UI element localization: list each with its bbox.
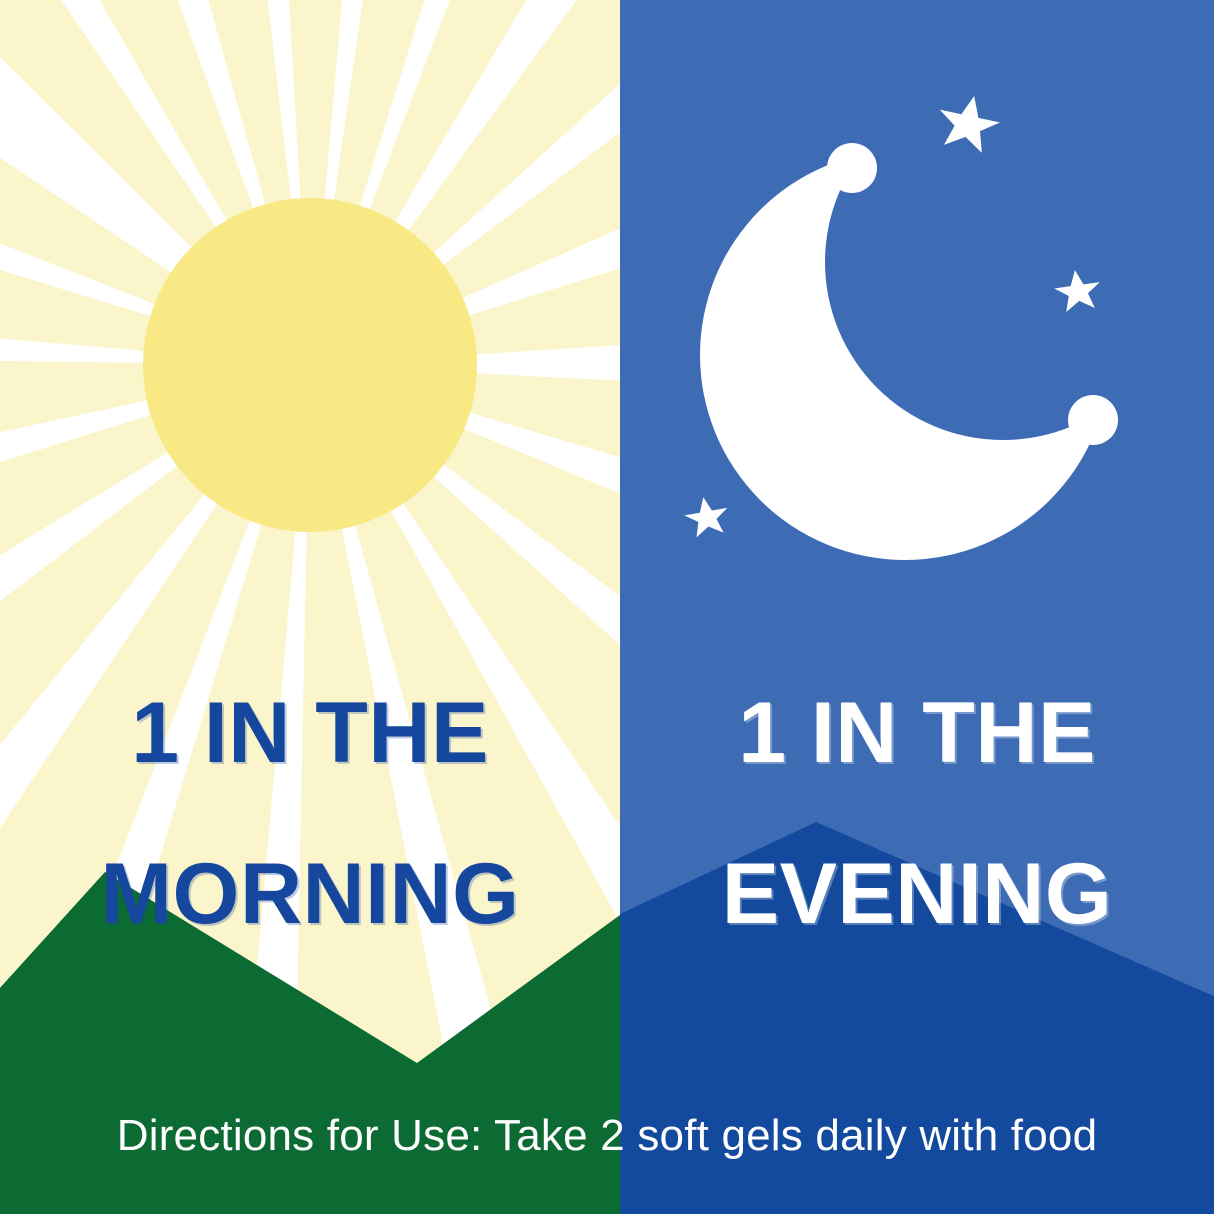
directions-for-use-text: Directions for Use: Take 2 soft gels dai…	[0, 1114, 1214, 1158]
evening-scene	[0, 0, 1214, 1214]
evening-headline: 1 IN THE EVENING	[620, 612, 1214, 1016]
morning-headline-line2: MORNING	[0, 854, 620, 935]
morning-headline: 1 IN THE MORNING	[0, 612, 620, 1016]
evening-headline-line1: 1 IN THE	[620, 693, 1214, 774]
morning-headline-line1: 1 IN THE	[0, 693, 620, 774]
crescent-moon-icon	[640, 90, 1180, 630]
evening-headline-line2: EVENING	[620, 854, 1214, 935]
dosage-infographic: 1 IN THE MORNING 1 IN THE EVENING Direct…	[0, 0, 1214, 1214]
